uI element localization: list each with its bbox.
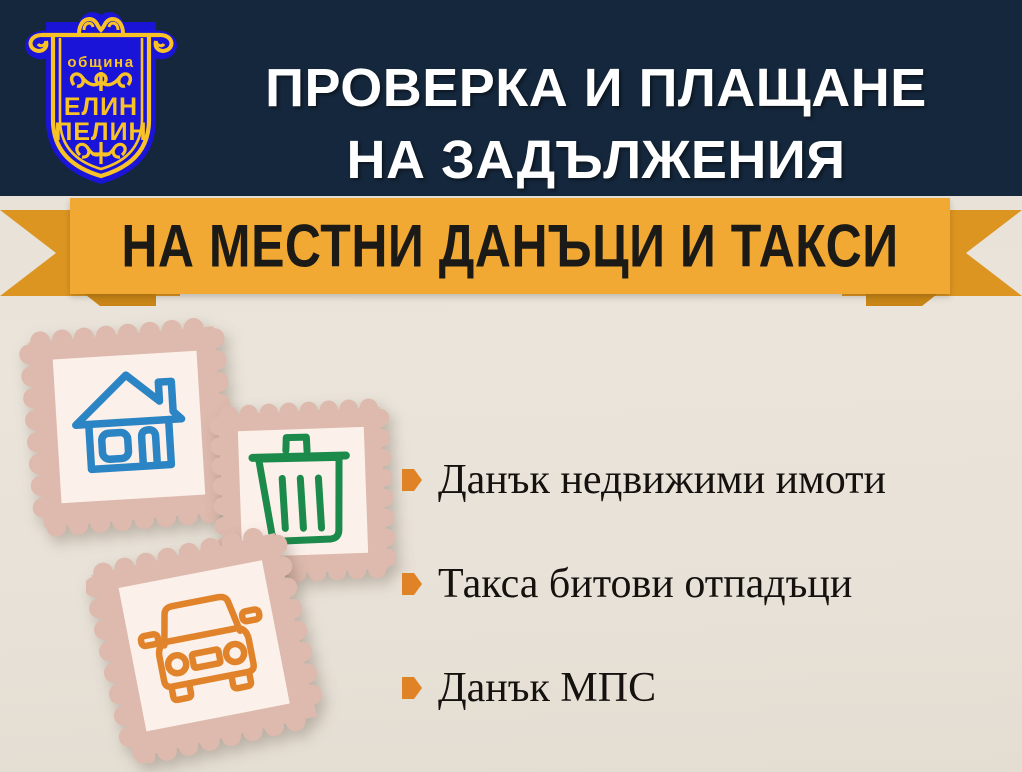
ribbon-label: НА МЕСТНИ ДАНЪЦИ И ТАКСИ (70, 188, 950, 303)
list-item-label: Данък МПС (438, 667, 656, 709)
logo-top-word: община (67, 54, 134, 71)
list-item[interactable]: Данък недвижими имоти (402, 428, 1012, 532)
list-item-label: Данък недвижими имоти (438, 459, 886, 501)
logo-name-line-1: ЕЛИН (64, 93, 138, 121)
arrow-bullet-icon (402, 573, 422, 595)
tax-type-list: Данък недвижими имоти Такса битови отпад… (402, 428, 1012, 740)
poster-canvas: ПРОВЕРКА И ПЛАЩАНЕ НА ЗАДЪЛЖЕНИЯ (0, 0, 1022, 772)
logo-name-line-2: ПЕЛИН (54, 118, 147, 146)
stamp-card-car (86, 528, 321, 763)
arrow-bullet-icon (402, 469, 422, 491)
list-item[interactable]: Такса битови отпадъци (402, 532, 1012, 636)
page-title-line-1: ПРОВЕРКА И ПЛАЩАНЕ (186, 53, 1006, 125)
list-item[interactable]: Данък МПС (402, 636, 1012, 740)
page-title-line-2: НА ЗАДЪЛЖЕНИЯ (186, 125, 1006, 196)
ribbon-banner: НА МЕСТНИ ДАНЪЦИ И ТАКСИ (0, 196, 1022, 308)
arrow-bullet-icon (402, 677, 422, 699)
ribbon-body: НА МЕСТНИ ДАНЪЦИ И ТАКСИ (70, 198, 950, 294)
municipality-logo: община ЕЛИН ПЕЛИН (22, 8, 180, 190)
page-title: ПРОВЕРКА И ПЛАЩАНЕ НА ЗАДЪЛЖЕНИЯ (186, 53, 1006, 196)
list-item-label: Такса битови отпадъци (438, 563, 852, 605)
